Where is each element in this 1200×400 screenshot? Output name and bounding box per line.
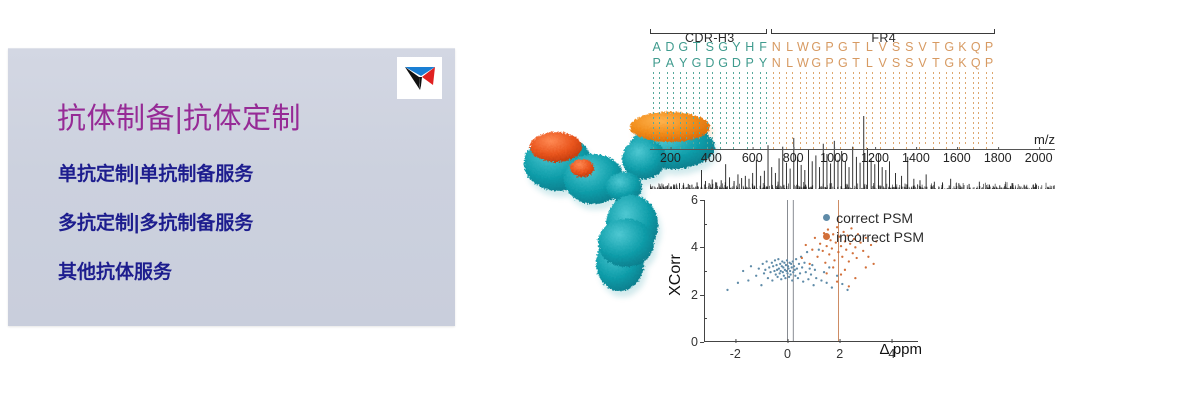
sequence-residue: V xyxy=(916,55,929,71)
sequence-residue: F xyxy=(756,39,769,55)
sequence-residue: T xyxy=(849,55,862,71)
sequence-residue: G xyxy=(836,39,849,55)
scatter-x-tick: -2 xyxy=(730,347,741,361)
fragment-guide-line xyxy=(880,72,881,150)
mz-tick-label: 1200 xyxy=(861,151,889,165)
mz-tick-label: 800 xyxy=(783,151,804,165)
chevron-logo-icon xyxy=(403,63,437,93)
sequence-residue: P xyxy=(982,39,995,55)
fragment-guide-line xyxy=(673,72,674,144)
fragment-guide-line xyxy=(933,72,934,150)
fragment-guide-line xyxy=(766,72,767,144)
fragment-guide-line xyxy=(720,72,721,150)
mz-tick-label: 400 xyxy=(701,151,722,165)
scatter-y-minor-tick xyxy=(704,224,707,225)
fragment-guide-line xyxy=(965,72,966,144)
service-item-monoclonal[interactable]: 单抗定制|单抗制备服务 xyxy=(58,165,418,184)
sequence-residue: P xyxy=(982,55,995,71)
sequence-residue: A xyxy=(650,39,663,55)
mz-tick-label: 1600 xyxy=(943,151,971,165)
figure-panel: CDR-H3 FR4 ADGTSGYHFNLWGPGTLVSSVTGKQP PA… xyxy=(480,0,1200,400)
fragment-guide-line xyxy=(779,72,780,144)
bracket-label-cdr-h3: CDR-H3 xyxy=(685,31,735,45)
fragment-guide-line xyxy=(925,72,926,144)
service-panel: 抗体制备|抗体定制 单抗定制|单抗制备服务 多抗定制|多抗制备服务 其他抗体服务 xyxy=(8,48,455,326)
fragment-guide-line xyxy=(899,72,900,144)
scatter-plot-area: correct PSM incorrect PSM 0246-2024 xyxy=(704,200,918,342)
fragment-guide-line xyxy=(693,72,694,150)
sequence-residue: W xyxy=(796,55,809,71)
fragment-guide-line xyxy=(806,72,807,144)
sequence-residue: P xyxy=(650,55,663,71)
sequence-residue: G xyxy=(716,55,729,71)
bracket-fr4: FR4 xyxy=(771,33,995,34)
fragment-guide-line xyxy=(959,72,960,150)
sequence-residue: G xyxy=(810,39,823,55)
fragment-guide-line xyxy=(747,72,748,150)
sequence-residue: P xyxy=(823,55,836,71)
fragment-guide-line xyxy=(859,72,860,144)
fragment-guide-line xyxy=(893,72,894,150)
fragment-guide-line xyxy=(659,72,660,144)
scatter-y-minor-tick xyxy=(704,318,707,319)
legend-label-incorrect: incorrect PSM xyxy=(836,229,924,245)
sequence-residue: L xyxy=(863,55,876,71)
fragment-guide-line xyxy=(752,72,753,144)
bracket-label-fr4: FR4 xyxy=(871,31,896,45)
sequence-residue: L xyxy=(783,55,796,71)
brand-logo xyxy=(397,57,442,99)
service-item-polyclonal[interactable]: 多抗定制|多抗制备服务 xyxy=(58,214,418,233)
fragment-guide-line xyxy=(826,72,827,150)
mass-spectrum-panel: CDR-H3 FR4 ADGTSGYHFNLWGPGTLVSSVTGKQP PA… xyxy=(650,22,1055,192)
scatter-y-tick: 0 xyxy=(691,335,698,349)
sequence-residue: K xyxy=(956,55,969,71)
mz-tick-label: 1000 xyxy=(820,151,848,165)
bracket-cdr-h3: CDR-H3 xyxy=(650,33,767,34)
legend-label-correct: correct PSM xyxy=(836,210,913,226)
scatter-y-tick: 6 xyxy=(691,193,698,207)
mz-tick-label: 2000 xyxy=(1025,151,1053,165)
fragment-guide-line xyxy=(786,72,787,150)
sequence-residue: G xyxy=(943,55,956,71)
sequence-residue: S xyxy=(903,39,916,55)
sequence-residue: Y xyxy=(677,55,690,71)
scatter-y-tick: 2 xyxy=(691,288,698,302)
fragment-guide-line xyxy=(733,72,734,150)
page-title: 抗体制备|抗体定制 xyxy=(57,105,301,134)
sequence-residue: P xyxy=(743,55,756,71)
legend-item-correct: correct PSM xyxy=(823,208,924,227)
fragment-guide-line xyxy=(885,72,886,144)
fragment-guide-line xyxy=(800,72,801,150)
psm-scatter-panel: XCorr correct PSM incorrect PSM 0246-202… xyxy=(678,196,928,368)
legend-swatch-incorrect xyxy=(823,233,830,240)
sequence-residue: A xyxy=(663,55,676,71)
fragment-guide-line xyxy=(667,72,668,150)
sequence-row-bottom: PAYGDGDPYNLWGPGTLVSSVTGKQP xyxy=(650,55,1055,71)
sequence-residue: Q xyxy=(969,55,982,71)
mz-axis-ticks: 200400600800100012001400160018002000 xyxy=(650,150,1055,166)
scatter-x-tick: 0 xyxy=(784,347,791,361)
scatter-y-axis-label: XCorr xyxy=(667,254,685,296)
sequence-residue: N xyxy=(770,39,783,55)
legend-item-incorrect: incorrect PSM xyxy=(823,227,924,246)
scatter-x-tick: 2 xyxy=(836,347,843,361)
sequence-residue: G xyxy=(690,55,703,71)
fragment-guide-line xyxy=(840,72,841,150)
fragment-guide-line xyxy=(773,72,774,150)
fragment-guide-line xyxy=(952,72,953,144)
mz-tick-label: 1400 xyxy=(902,151,930,165)
fragment-guide-line xyxy=(813,72,814,150)
fragment-guide-line xyxy=(853,72,854,150)
fragment-guide-line xyxy=(680,72,681,150)
fragment-guide-line xyxy=(986,72,987,150)
sequence-residue: S xyxy=(889,55,902,71)
service-list: 单抗定制|单抗制备服务 多抗定制|多抗制备服务 其他抗体服务 xyxy=(58,165,418,282)
sequence-region-brackets: CDR-H3 FR4 xyxy=(650,22,1055,39)
sequence-residue: V xyxy=(916,39,929,55)
legend-swatch-correct xyxy=(823,214,830,221)
fragment-guide-line xyxy=(699,72,700,144)
mz-tick-label: 600 xyxy=(742,151,763,165)
fragment-guide-line xyxy=(845,72,846,144)
sequence-residue: V xyxy=(876,55,889,71)
sequence-residue: T xyxy=(849,39,862,55)
scatter-y-tick: 4 xyxy=(691,240,698,254)
scatter-x-axis-label: Δ ppm xyxy=(879,341,922,358)
sequence-residue: W xyxy=(796,39,809,55)
sequence-residue: Q xyxy=(969,39,982,55)
sequence-residue: D xyxy=(703,55,716,71)
fragment-guide-line xyxy=(707,72,708,150)
service-item-other[interactable]: 其他抗体服务 xyxy=(58,263,418,282)
sequence-residue: S xyxy=(903,55,916,71)
fragment-guide-line xyxy=(872,72,873,144)
sequence-residue: L xyxy=(783,39,796,55)
sequence-residue: T xyxy=(929,39,942,55)
fragment-guide-line xyxy=(686,72,687,144)
scatter-y-minor-tick xyxy=(704,271,707,272)
fragment-guide-line xyxy=(792,72,793,144)
fragment-guide-lines: m/z xyxy=(650,72,1055,150)
fragment-guide-line xyxy=(653,72,654,150)
mz-tick-label: 1800 xyxy=(984,151,1012,165)
sequence-residue: K xyxy=(956,39,969,55)
fragment-guide-line xyxy=(726,72,727,144)
fragment-guide-line xyxy=(946,72,947,150)
fragment-guide-line xyxy=(739,72,740,144)
sequence-residue: H xyxy=(743,39,756,55)
fragment-guide-line xyxy=(912,72,913,144)
fragment-guide-line xyxy=(832,72,833,144)
sequence-residue: G xyxy=(810,55,823,71)
sequence-residue: N xyxy=(770,55,783,71)
sequence-residue: Y xyxy=(756,55,769,71)
fragment-guide-line xyxy=(712,72,713,144)
scatter-legend: correct PSM incorrect PSM xyxy=(823,208,924,246)
sequence-residue: D xyxy=(663,39,676,55)
fragment-guide-line xyxy=(819,72,820,144)
fragment-guide-line xyxy=(992,72,993,144)
sequence-residue: G xyxy=(943,39,956,55)
fragment-guide-line xyxy=(973,72,974,150)
fragment-guide-line xyxy=(939,72,940,144)
sequence-residue: D xyxy=(730,55,743,71)
sequence-residue: T xyxy=(929,55,942,71)
mz-axis-label: m/z xyxy=(1032,132,1055,147)
mz-tick-label: 200 xyxy=(660,151,681,165)
sequence-residue: G xyxy=(836,55,849,71)
fragment-guide-line xyxy=(906,72,907,150)
fragment-guide-line xyxy=(978,72,979,144)
sequence-residue: P xyxy=(823,39,836,55)
fragment-guide-line xyxy=(866,72,867,150)
fragment-guide-line xyxy=(919,72,920,150)
fragment-guide-line xyxy=(760,72,761,150)
